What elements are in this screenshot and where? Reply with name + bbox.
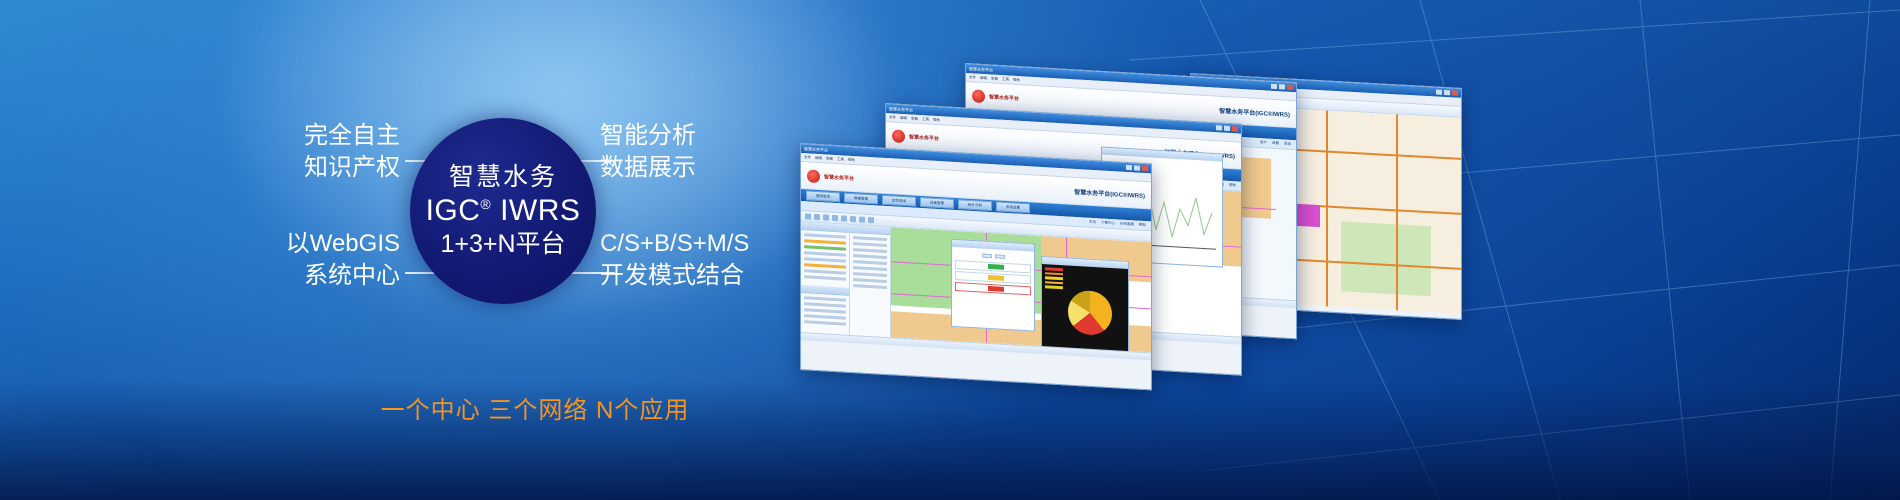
maximize-icon [1134,165,1140,170]
nav-button[interactable]: 综合查询 [882,195,916,207]
hub-title-cn: 智慧水务 [449,163,557,192]
maximize-icon [1444,90,1450,95]
menu-tools[interactable]: 工具 [1002,77,1009,82]
close-icon [1142,166,1148,171]
hub-brand-igc: IGC [426,194,481,227]
tree-item [804,233,846,238]
attr-row [804,302,846,307]
maximize-icon [1279,84,1285,89]
window-front[interactable]: 智慧水务平台 文件 编辑 查看 工具 帮助 智慧水务平台 智慧水务平台(IGC®… [800,143,1152,390]
nav-button[interactable]: 设备管理 [920,197,954,209]
identify-icon [841,215,847,221]
toc-item [853,254,887,259]
menu-help[interactable]: 帮助 [933,117,940,122]
hub-subtitle: 1+3+N平台 [440,229,565,259]
measure-icon [850,216,856,222]
toc-item [853,284,887,289]
attr-row [804,308,846,313]
product-title: 智慧水务平台(IGC®IWRS) [1074,186,1145,199]
window-title: 智慧水务平台 [804,146,828,153]
subnav-item[interactable]: 在线客服 [1120,222,1134,228]
label-top-right: 智能分析 数据展示 [600,120,696,184]
nav-button[interactable]: 系统设置 [996,201,1030,213]
window-controls[interactable] [1271,84,1293,90]
toc-item [853,260,887,265]
close-icon [1452,90,1458,95]
subnav-item[interactable]: 主页 [1089,220,1096,225]
window-controls[interactable] [1216,125,1238,131]
minimize-icon [1126,165,1132,170]
pie-chart-dialog[interactable] [1041,256,1129,351]
tree-item [804,275,846,280]
subnav-item[interactable]: 帮助 [1229,183,1236,188]
layer-tree[interactable] [801,230,849,284]
menu-edit[interactable]: 编辑 [815,155,822,160]
subnav-item[interactable]: 设置 [1272,141,1279,146]
toc-list[interactable] [850,233,890,292]
toc-item [853,248,887,253]
toc-item [853,278,887,283]
maximize-icon [1224,126,1230,131]
tree-item [804,263,846,268]
zoom-out-icon [823,214,829,220]
menu-edit[interactable]: 编辑 [980,75,987,80]
tree-item [804,269,846,274]
label-bottom-right-line2: 开发模式结合 [600,260,749,292]
print-icon [859,216,865,222]
close-icon [1287,85,1293,90]
company-logo-icon [892,129,905,143]
product-title: 智慧水务平台(IGC®IWRS) [1219,105,1290,118]
minimize-icon [1436,90,1442,95]
menu-file[interactable]: 文件 [969,75,976,80]
select-icon [832,215,838,221]
tree-item [804,251,846,256]
label-top-right-line1: 智能分析 [600,120,696,152]
menu-tools[interactable]: 工具 [837,157,844,162]
pie-chart [1068,290,1112,337]
window-title: 智慧水务平台 [889,106,913,113]
minimize-icon [1271,84,1277,89]
subnav-item[interactable]: 退出 [1284,142,1291,147]
menu-file[interactable]: 文件 [804,155,811,160]
tagline: 一个中心 三个网络 N个应用 [255,390,815,425]
label-bottom-left-line2: 系统中心 [255,260,400,292]
zoom-in-icon [814,214,820,220]
hub-brand: IGC® IWRS [426,194,581,229]
attr-row [804,296,846,301]
app-window-stack: 路网图 智慧水务平台 [790,45,1900,365]
toc-item [853,236,887,241]
nav-button[interactable]: 管网查询 [806,190,840,202]
label-bottom-left-line1: 以WebGIS [255,228,400,260]
menu-file[interactable]: 文件 [889,115,896,120]
label-bottom-left: 以WebGIS 系统中心 [255,228,400,292]
toc-pane[interactable] [850,225,891,337]
tree-item [804,239,846,244]
brand-text: 智慧水务平台 [824,173,854,182]
tree-item [804,245,846,250]
menu-tools[interactable]: 工具 [922,117,929,122]
brand-text: 智慧水务平台 [989,93,1019,102]
subnav-item[interactable]: 帮助 [1139,223,1146,228]
window-controls[interactable] [1436,90,1458,96]
concept-diagram: 完全自主 知识产权 以WebGIS 系统中心 智能分析 数据展示 C/S+B/S… [255,100,815,390]
layer-tree-pane[interactable] [801,222,850,335]
close-icon [1232,126,1238,131]
subnav-item[interactable]: 用户 [1260,140,1267,145]
pan-icon [805,213,811,219]
label-bottom-right: C/S+B/S+M/S 开发模式结合 [600,228,749,292]
nav-button[interactable]: 数据管理 [844,193,878,205]
menu-view[interactable]: 查看 [826,156,833,161]
label-top-right-line2: 数据展示 [600,152,696,184]
label-top-left: 完全自主 知识产权 [255,120,400,184]
subnav-item[interactable]: 下载中心 [1101,220,1115,226]
cancel-button[interactable] [995,254,1005,259]
query-button[interactable] [982,254,992,259]
company-logo-icon [972,89,985,103]
window-title: 智慧水务平台 [969,66,993,73]
tree-item [804,257,846,262]
stats-dialog[interactable] [951,239,1035,332]
window-body [801,222,1151,352]
menu-view[interactable]: 查看 [991,76,998,81]
banner-stage: 完全自主 知识产权 以WebGIS 系统中心 智能分析 数据展示 C/S+B/S… [0,0,1900,500]
attr-row [804,314,846,319]
brand-text: 智慧水务平台 [909,133,939,142]
label-top-left-line2: 知识产权 [255,152,400,184]
window-controls[interactable] [1126,165,1148,171]
nav-button[interactable]: 统计分析 [958,199,992,211]
label-bottom-right-line1: C/S+B/S+M/S [600,228,749,260]
registered-mark-icon: ® [480,196,491,212]
toc-item [853,266,887,271]
toc-item [853,272,887,277]
attribute-list[interactable] [801,293,849,329]
label-top-left-line1: 完全自主 [255,120,400,152]
toc-item [853,242,887,247]
company-logo-icon [807,169,820,183]
stats-row [955,282,1031,295]
layers-icon [868,217,874,223]
hub-brand-iwrs: IWRS [500,194,580,227]
minimize-icon [1216,125,1222,130]
menu-view[interactable]: 查看 [911,116,918,121]
menu-edit[interactable]: 编辑 [900,115,907,120]
attr-row [804,320,846,325]
map-canvas[interactable] [891,227,1151,352]
hub-circle: 智慧水务 IGC® IWRS 1+3+N平台 [410,118,596,304]
menu-help[interactable]: 帮助 [1013,77,1020,82]
menu-help[interactable]: 帮助 [848,157,855,162]
